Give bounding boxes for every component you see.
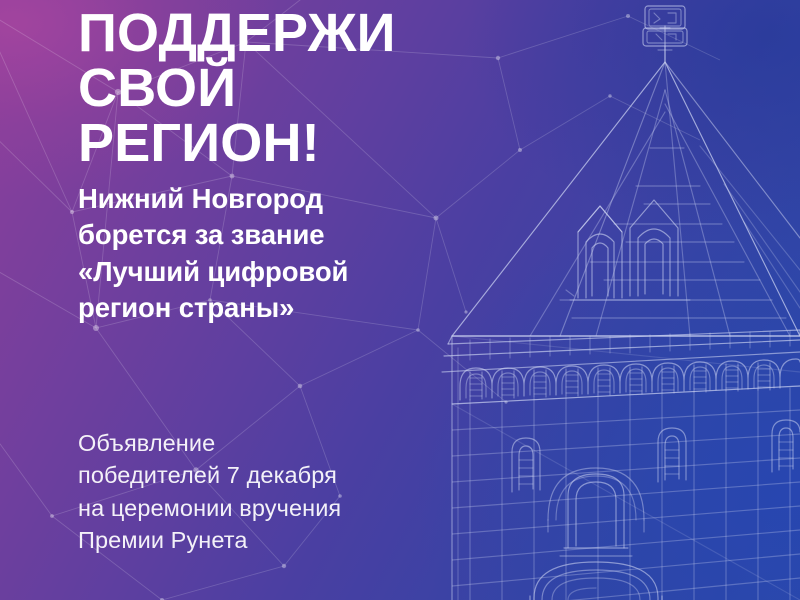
headline-line-2: СВОЙ РЕГИОН! [78,61,478,171]
announcement-note: Объявление победителей 7 декабря на цере… [78,427,458,557]
page-title: ПОДДЕРЖИ СВОЙ РЕГИОН! [78,6,478,171]
text-column: ПОДДЕРЖИ СВОЙ РЕГИОН! Нижний Новгород бо… [0,0,470,600]
promo-banner: ПОДДЕРЖИ СВОЙ РЕГИОН! Нижний Новгород бо… [0,0,800,600]
subheading-line-1: Нижний Новгород [78,181,448,217]
headline-line-1: ПОДДЕРЖИ [78,6,478,61]
subheading-line-2: борется за звание [78,217,448,253]
subheading-line-4: регион страны» [78,290,448,326]
subheading: Нижний Новгород борется за звание «Лучши… [78,181,448,326]
footnote-line-4: Премии Рунета [78,524,458,556]
footnote-line-3: на церемонии вручения [78,492,458,524]
footnote-line-2: победителей 7 декабря [78,459,458,491]
subheading-line-3: «Лучший цифровой [78,254,448,290]
footnote-line-1: Объявление [78,427,458,459]
